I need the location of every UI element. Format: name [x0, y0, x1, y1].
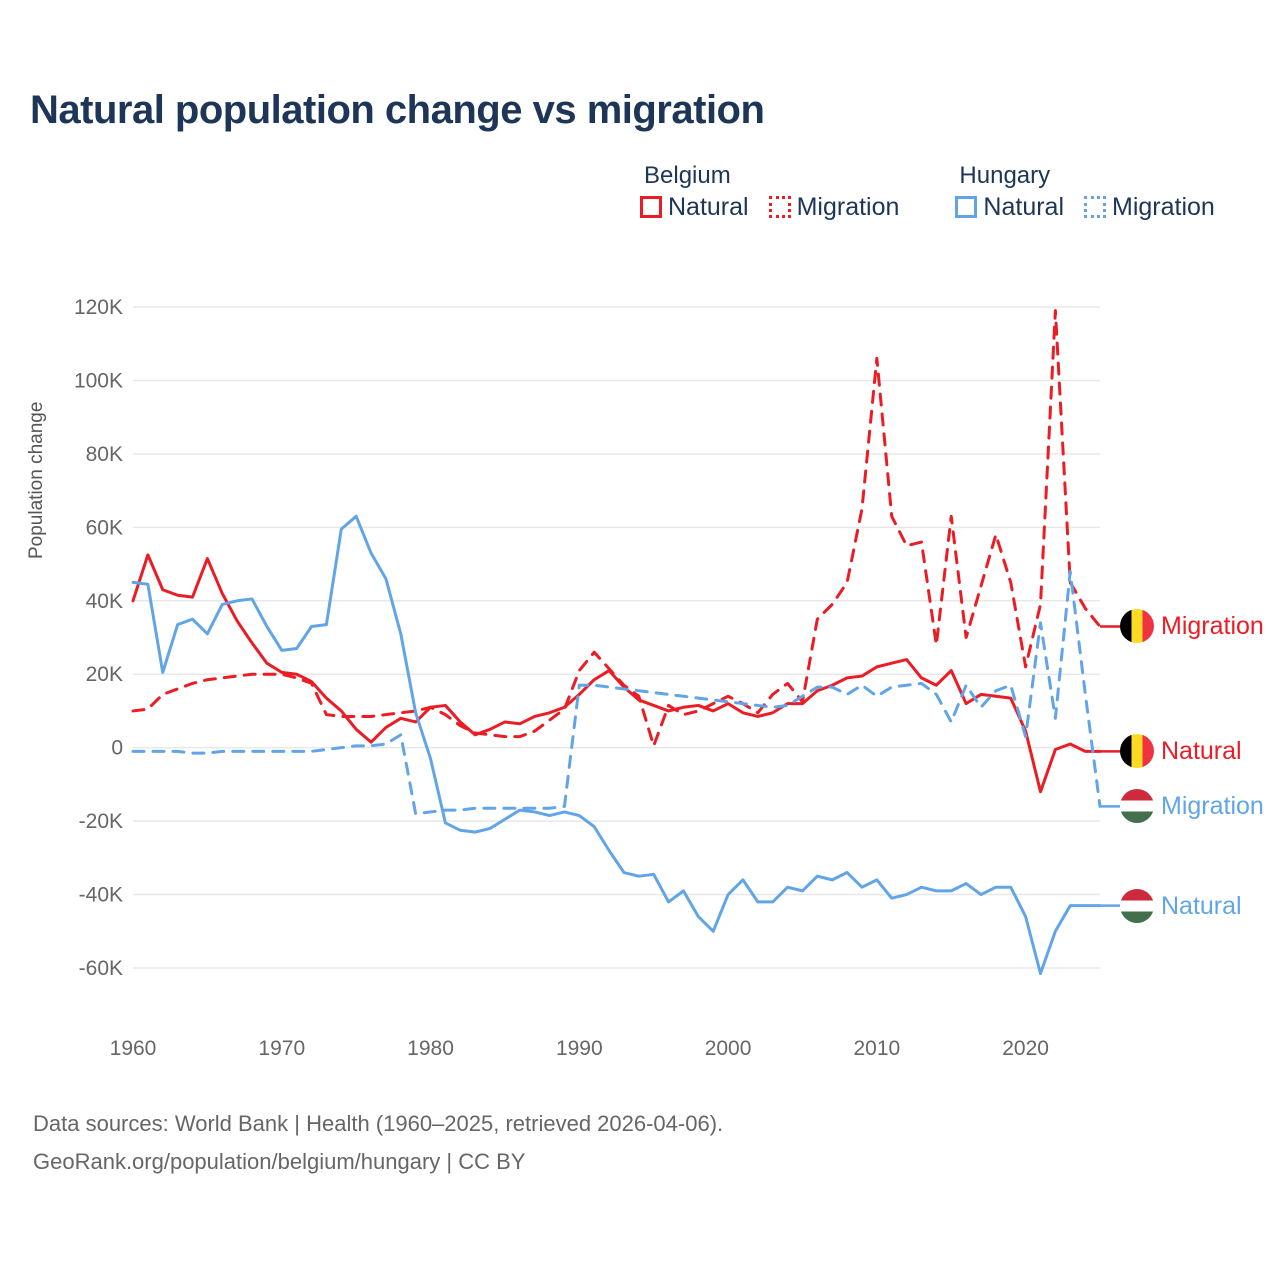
- y-axis-tick-labels: -60K-40K-20K020K40K60K80K100K120K: [74, 296, 123, 980]
- y-tick-label: 40K: [86, 590, 123, 613]
- x-tick-label: 2020: [1002, 1037, 1049, 1060]
- gridlines: [133, 307, 1100, 968]
- data-series-lines: [133, 311, 1122, 974]
- hungary-flag-icon: [1120, 789, 1154, 823]
- y-tick-label: 100K: [74, 369, 123, 392]
- y-tick-label: 60K: [86, 516, 123, 539]
- y-tick-label: -60K: [79, 957, 123, 980]
- hungary-flag-icon: [1120, 889, 1154, 923]
- x-tick-label: 1990: [556, 1037, 603, 1060]
- end-label-text: Migration: [1161, 793, 1264, 819]
- x-tick-label: 2010: [853, 1037, 900, 1060]
- y-tick-label: 0: [111, 737, 123, 760]
- series-line-hungary-migration: [133, 571, 1100, 813]
- y-tick-label: -40K: [79, 884, 123, 907]
- plot-area: -60K-40K-20K020K40K60K80K100K120K 196019…: [0, 0, 1280, 1280]
- y-tick-label: 20K: [86, 663, 123, 686]
- belgium-flag-icon: [1120, 734, 1154, 768]
- x-tick-label: 1970: [258, 1037, 305, 1060]
- end-label-text: Natural: [1161, 893, 1242, 919]
- end-label-text: Migration: [1161, 613, 1264, 639]
- belgium-flag-icon: [1120, 609, 1154, 643]
- chart-root: Natural population change vs migration B…: [0, 0, 1280, 1280]
- footer-line-1: Data sources: World Bank | Health (1960–…: [33, 1105, 723, 1143]
- y-tick-label: -20K: [79, 810, 123, 833]
- end-label-belgium-migration: Migration: [1120, 609, 1264, 643]
- footer-line-2: GeoRank.org/population/belgium/hungary |…: [33, 1143, 723, 1181]
- series-line-belgium-natural: [133, 555, 1100, 792]
- end-label-hungary-migration: Migration: [1120, 789, 1264, 823]
- x-tick-label: 1980: [407, 1037, 454, 1060]
- x-tick-label: 1960: [110, 1037, 157, 1060]
- end-label-belgium-natural: Natural: [1120, 734, 1242, 768]
- y-tick-label: 120K: [74, 296, 123, 319]
- y-tick-label: 80K: [86, 443, 123, 466]
- series-line-hungary-natural: [133, 516, 1100, 973]
- x-axis-tick-labels: 1960197019801990200020102020: [110, 1037, 1049, 1060]
- end-label-text: Natural: [1161, 738, 1242, 764]
- footer-sources: Data sources: World Bank | Health (1960–…: [33, 1105, 723, 1181]
- x-tick-label: 2000: [705, 1037, 752, 1060]
- end-label-hungary-natural: Natural: [1120, 889, 1242, 923]
